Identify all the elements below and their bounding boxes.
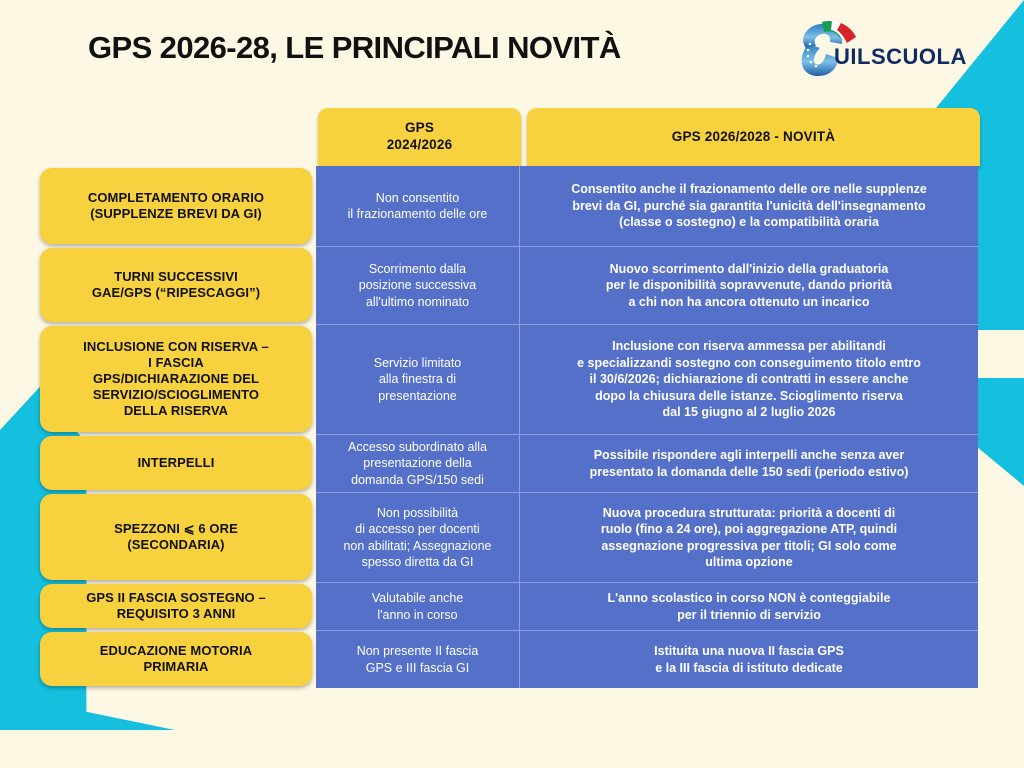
row-label: SPEZZONI ⩽ 6 ORE (SECONDARIA) <box>40 494 312 580</box>
table-row: COMPLETAMENTO ORARIO (SUPPLENZE BREVI DA… <box>40 166 990 246</box>
row-label: TURNI SUCCESSIVI GAE/GPS (“RIPESCAGGI”) <box>40 248 312 322</box>
cell-new-rule: Nuova procedura strutturata: priorità a … <box>519 492 978 582</box>
cell-new-rule: Istituita una nuova II fascia GPS e la I… <box>519 630 978 688</box>
cell-old-rule: Valutabile anche l'anno in corso <box>316 582 519 630</box>
logo-text: UILSCUOLA <box>834 44 967 70</box>
cell-new-rule: Inclusione con riserva ammessa per abili… <box>519 324 978 434</box>
table-row: INCLUSIONE CON RISERVA – I FASCIA GPS/DI… <box>40 324 990 434</box>
cell-new-rule: Possibile rispondere agli interpelli anc… <box>519 434 978 492</box>
row-label: GPS II FASCIA SOSTEGNO – REQUISITO 3 ANN… <box>40 584 312 628</box>
table-row: GPS II FASCIA SOSTEGNO – REQUISITO 3 ANN… <box>40 582 990 630</box>
column-header-gps-2024-2026: GPS 2024/2026 <box>318 108 521 166</box>
cell-new-rule: L'anno scolastico in corso NON è contegg… <box>519 582 978 630</box>
slide-root: GPS 2026-28, LE PRINCIPALI NOVITÀ <box>0 0 1024 768</box>
table-row: EDUCAZIONE MOTORIA PRIMARIA Non presente… <box>40 630 990 688</box>
page-title: GPS 2026-28, LE PRINCIPALI NOVITÀ <box>88 30 621 66</box>
table-row: SPEZZONI ⩽ 6 ORE (SECONDARIA) Non possib… <box>40 492 990 582</box>
table-header-row: GPS 2024/2026 GPS 2026/2028 - NOVITÀ <box>318 108 990 166</box>
table-body: COMPLETAMENTO ORARIO (SUPPLENZE BREVI DA… <box>40 166 990 688</box>
cell-old-rule: Non presente II fascia GPS e III fascia … <box>316 630 519 688</box>
table-row: INTERPELLI Accesso subordinato alla pres… <box>40 434 990 492</box>
cell-new-rule: Consentito anche il frazionamento delle … <box>519 166 978 246</box>
row-label: EDUCAZIONE MOTORIA PRIMARIA <box>40 632 312 686</box>
uilscuola-logo: UILSCUOLA <box>786 14 956 82</box>
column-header-gps-2026-2028-novita: GPS 2026/2028 - NOVITÀ <box>527 108 980 166</box>
cell-old-rule: Servizio limitato alla finestra di prese… <box>316 324 519 434</box>
comparison-table: GPS 2024/2026 GPS 2026/2028 - NOVITÀ COM… <box>40 108 990 688</box>
cell-new-rule: Nuovo scorrimento dall'inizio della grad… <box>519 246 978 324</box>
cell-old-rule: Accesso subordinato alla presentazione d… <box>316 434 519 492</box>
row-label: INTERPELLI <box>40 436 312 490</box>
cell-old-rule: Non consentito il frazionamento delle or… <box>316 166 519 246</box>
row-label: INCLUSIONE CON RISERVA – I FASCIA GPS/DI… <box>40 326 312 432</box>
cell-old-rule: Non possibilità di accesso per docenti n… <box>316 492 519 582</box>
cell-old-rule: Scorrimento dalla posizione successiva a… <box>316 246 519 324</box>
table-row: TURNI SUCCESSIVI GAE/GPS (“RIPESCAGGI”) … <box>40 246 990 324</box>
header: GPS 2026-28, LE PRINCIPALI NOVITÀ <box>0 0 1024 100</box>
row-label: COMPLETAMENTO ORARIO (SUPPLENZE BREVI DA… <box>40 168 312 244</box>
